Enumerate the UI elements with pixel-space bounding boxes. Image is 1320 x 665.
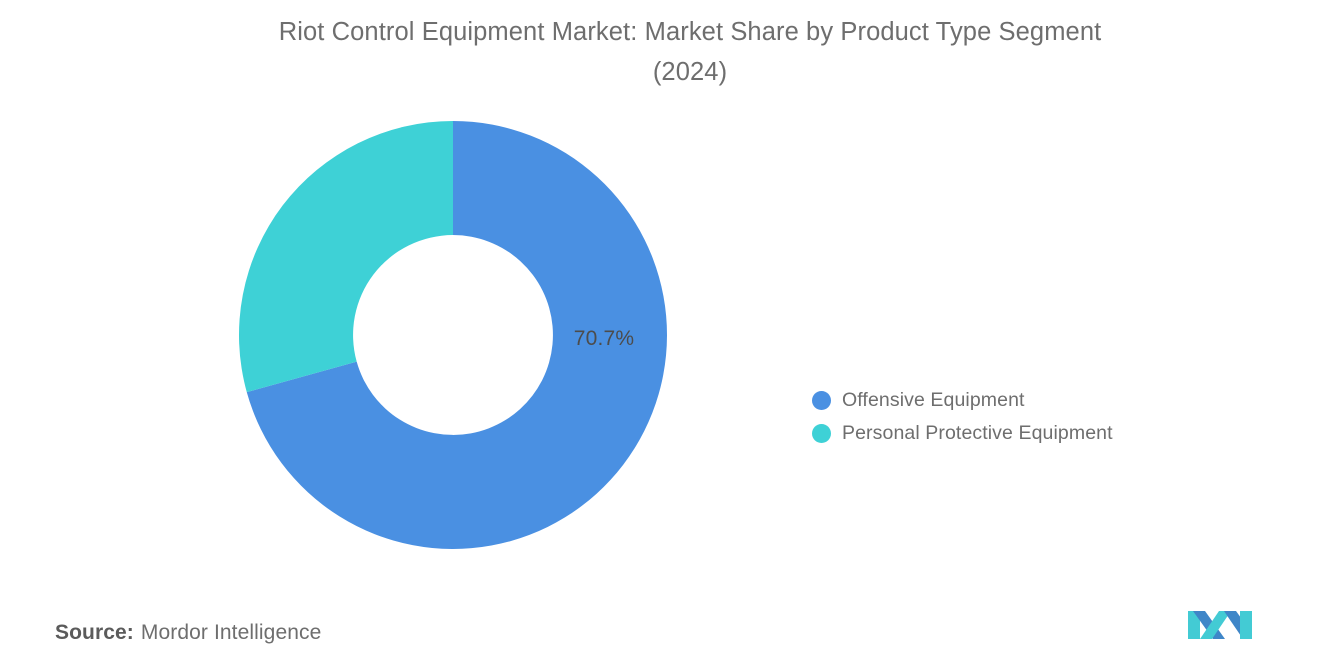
legend-label-personal-protective-equipment: Personal Protective Equipment — [842, 422, 1113, 445]
legend-item-offensive-equipment[interactable]: Offensive Equipment — [812, 384, 1113, 417]
donut-chart: 70.7% — [239, 121, 667, 549]
chart-legend: Offensive Equipment Personal Protective … — [812, 384, 1113, 450]
chart-title: Riot Control Equipment Market: Market Sh… — [160, 12, 1220, 92]
plot-area: 70.7% Offensive Equipment Personal Prote… — [0, 100, 790, 570]
donut-svg — [239, 121, 667, 549]
logo-svg — [1188, 603, 1252, 639]
source-label: Source: — [55, 621, 134, 644]
pie-slice-personal-protective-equipment[interactable] — [239, 121, 453, 392]
chart-title-line-2: (2024) — [653, 58, 727, 86]
chart-title-line-1: Riot Control Equipment Market: Market Sh… — [279, 18, 1102, 46]
legend-swatch-icon-personal-protective-equipment — [812, 424, 831, 443]
legend-swatch-icon-offensive-equipment — [812, 391, 831, 410]
legend-label-offensive-equipment: Offensive Equipment — [842, 389, 1025, 412]
mordor-intelligence-logo-icon — [1188, 603, 1252, 639]
source-attribution: Source:Mordor Intelligence — [55, 621, 321, 645]
legend-item-personal-protective-equipment[interactable]: Personal Protective Equipment — [812, 417, 1113, 450]
source-value: Mordor Intelligence — [141, 621, 322, 644]
chart-card: Riot Control Equipment Market: Market Sh… — [0, 0, 1320, 665]
